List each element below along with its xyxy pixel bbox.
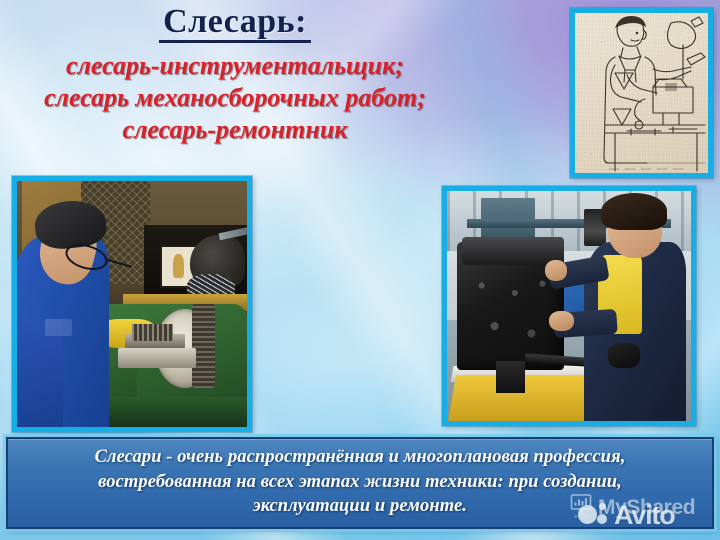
caption-line-3: эксплуатации и ремонте. [95,494,626,519]
subtitle-line-1: слесарь-инструментальщик; [0,50,470,82]
caption-line-2: востребованная на всех этапах жизни техн… [95,470,626,495]
photo-left-frame [12,176,252,432]
caption-line-1: Слесари - очень распространённая и много… [95,445,626,470]
lathe-tool-holder [132,324,173,341]
subtitle-line-3: слесарь-ремонтник [0,114,470,146]
mechanic-upper-hand [545,260,567,281]
drawing-frame [570,8,713,178]
mechanic-glove [608,343,640,368]
drawing-lineart-svg [575,13,708,173]
photo-right-mechanic-with-engine [447,191,691,421]
lathe-cross-slide [118,348,196,368]
photo-left-worker-at-lathe [17,181,247,427]
mechanic-hair [601,193,667,230]
title-block: Слесарь: слесарь-инструментальщик; слеса… [0,4,470,146]
photo-right-frame [442,186,696,426]
drawing-image-worker-at-vise [575,13,708,173]
caption-text: Слесари - очень распространённая и много… [95,445,626,519]
car-engine-bolts [467,269,560,361]
car-engine-valve-cover [462,237,564,265]
presentation-slide: Слесарь: слесарь-инструментальщик; слеса… [0,0,720,540]
slide-subtitle-list: слесарь-инструментальщик; слесарь механо… [0,50,470,146]
caption-box: Слесари - очень распространённая и много… [6,437,714,529]
lathe-worker-pocket [45,319,73,336]
car-engine-stand [496,361,525,393]
slide-title: Слесарь: [159,4,311,43]
lathe-wheel-rim [192,304,215,388]
subtitle-line-2: слесарь механосборочных работ; [0,82,470,114]
mechanic-lower-hand [549,311,573,332]
